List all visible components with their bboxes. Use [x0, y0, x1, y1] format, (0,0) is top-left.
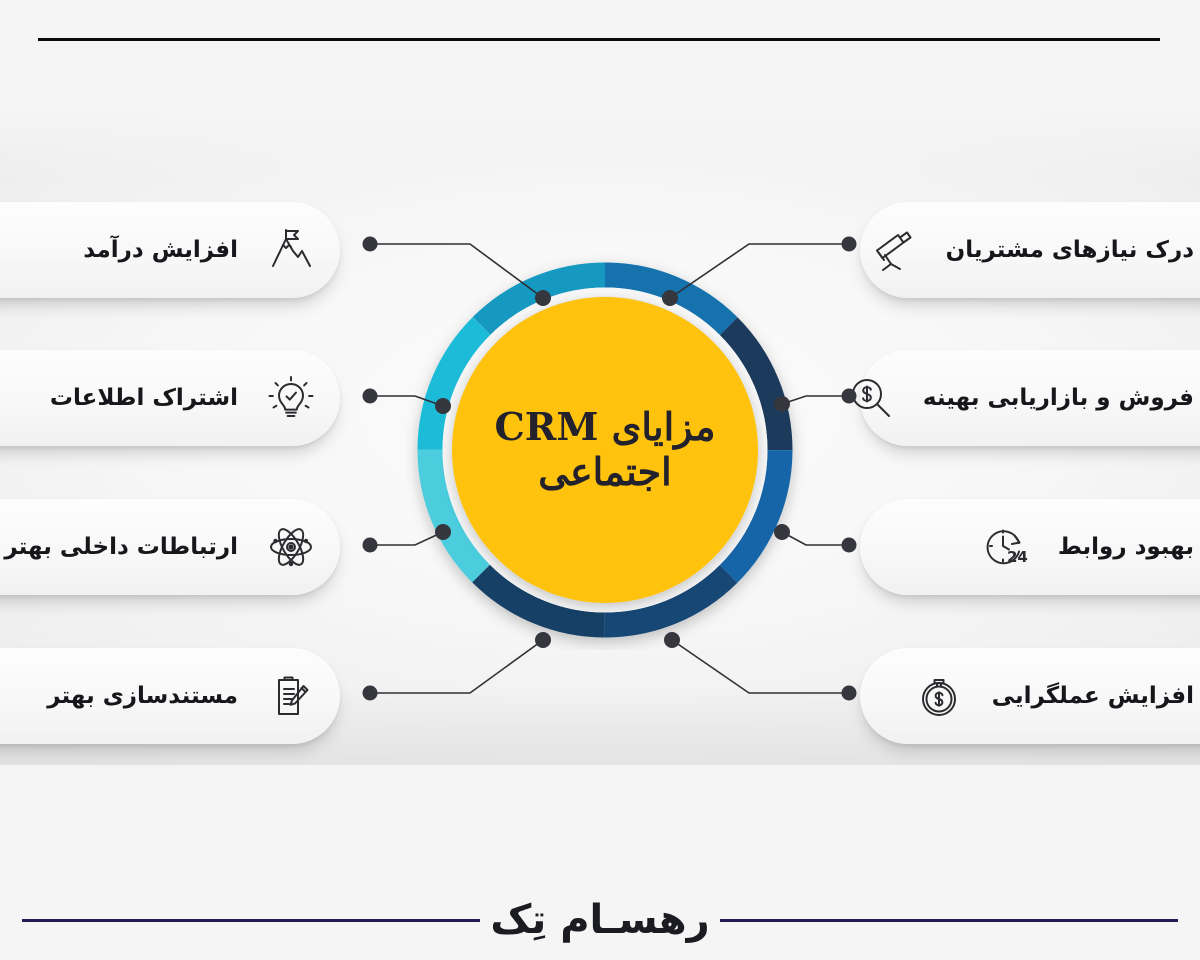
- donut-ring-diagram: [405, 250, 805, 650]
- clock-24-icon: 24: [978, 520, 1032, 574]
- benefit-pill-left-4[interactable]: مستندسازی بهتر: [0, 648, 340, 744]
- benefit-label: ارتباطات داخلی بهتر: [4, 534, 238, 560]
- atom-icon: [264, 520, 318, 574]
- benefit-label: اشتراک اطلاعات: [50, 385, 238, 411]
- benefit-label: درک نیازهای مشتریان: [946, 237, 1194, 263]
- mountain-flag-icon: [264, 223, 318, 277]
- clock-badge-number: 24: [1007, 548, 1028, 566]
- lightbulb-check-icon: [264, 371, 318, 425]
- benefit-pill-left-2[interactable]: اشتراک اطلاعات: [0, 350, 340, 446]
- benefit-label: فروش و بازاریابی بهینه: [923, 385, 1194, 411]
- top-divider-rule: [38, 38, 1160, 41]
- benefit-pill-left-3[interactable]: ارتباطات داخلی بهتر: [0, 499, 340, 595]
- benefit-pill-right-2[interactable]: فروش و بازاریابی بهینه: [860, 350, 1200, 446]
- clipboard-pen-icon: [264, 669, 318, 723]
- benefit-label: مستندسازی بهتر: [47, 683, 238, 709]
- footer-rule-left: [22, 919, 480, 922]
- footer-brand-bar: رهسـام تِک: [0, 880, 1200, 960]
- stopwatch-dollar-icon: [912, 669, 966, 723]
- telescope-icon: [866, 223, 920, 277]
- benefit-pill-right-1[interactable]: درک نیازهای مشتریان: [860, 202, 1200, 298]
- footer-brand-text: رهسـام تِک: [484, 900, 715, 940]
- benefit-pill-right-3[interactable]: 24 بهبود روابط: [860, 499, 1200, 595]
- center-core-circle: [452, 297, 758, 603]
- benefit-pill-right-4[interactable]: افزایش عملگرایی: [860, 648, 1200, 744]
- infographic-canvas: افزایش درآمد اشتراک اطلاعات: [0, 0, 1200, 960]
- donut-svg: [405, 250, 805, 650]
- benefit-label: افزایش عملگرایی: [992, 683, 1194, 709]
- benefit-label: افزایش درآمد: [83, 237, 238, 263]
- footer-rule-right: [720, 919, 1178, 922]
- benefit-pill-left-1[interactable]: افزایش درآمد: [0, 202, 340, 298]
- magnifier-dollar-icon: [843, 371, 897, 425]
- benefit-label: بهبود روابط: [1058, 534, 1194, 560]
